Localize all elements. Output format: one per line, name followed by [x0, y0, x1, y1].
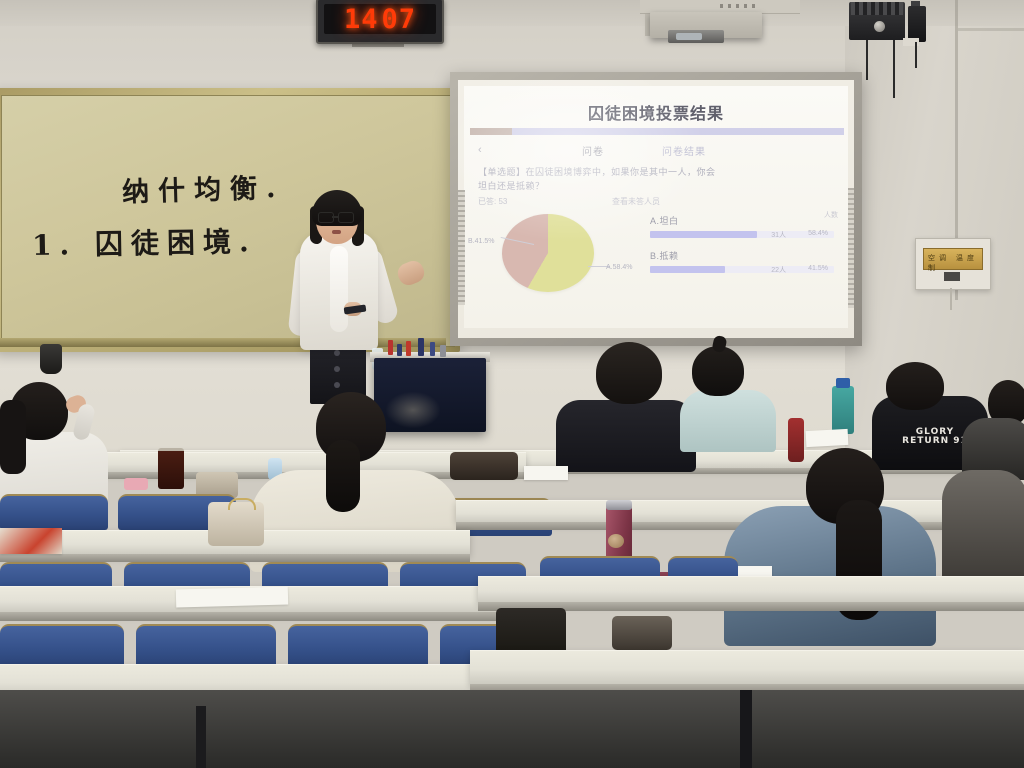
- thermos-collar-icon: [606, 500, 632, 510]
- student-black-jacket: [556, 400, 696, 472]
- whiteboard-line-2: 1. 囚徒困境.: [32, 220, 257, 264]
- desk-row-4-right: [478, 576, 1024, 603]
- marker-blue: [430, 342, 435, 356]
- wall-router: [908, 6, 926, 42]
- seat[interactable]: [288, 624, 428, 668]
- student-blue-hoodie-head: [692, 346, 744, 396]
- paper-sheet: [176, 587, 288, 608]
- panel-wire: [950, 288, 952, 310]
- projector-lens-icon: [676, 33, 702, 40]
- amplifier-heatsink-icon: [851, 2, 903, 15]
- pink-case: [124, 478, 148, 490]
- colored-paper: [0, 528, 62, 554]
- marker-red: [406, 341, 411, 356]
- classroom-floor: [0, 690, 1024, 768]
- podium-reflection: [386, 392, 440, 428]
- desk-row-3-right: [456, 500, 1024, 523]
- marker-blue: [397, 344, 402, 356]
- option-b-bar-track: 22人 41.5%: [650, 266, 834, 273]
- glass-tea-jar: [158, 448, 184, 489]
- seat[interactable]: [136, 624, 276, 668]
- desk-leg: [196, 706, 206, 768]
- backpack: [450, 452, 518, 480]
- equipment-cable: [893, 40, 895, 98]
- marker-red: [388, 340, 393, 355]
- option-b-bar-fill: [650, 266, 725, 273]
- clock-hours: 14: [344, 4, 379, 35]
- seat[interactable]: [0, 624, 124, 668]
- pie-label-a: A.58.4%: [606, 264, 632, 271]
- wall-speaker: [40, 344, 62, 374]
- skirt-button-icon: [334, 350, 340, 356]
- equipment-cable: [915, 42, 917, 68]
- screen-surface: 囚徒困境投票结果 ‹ 问卷 问卷结果 【单选题】在囚徒困境博弈中，如果你是其中一…: [458, 80, 854, 338]
- eyeglasses-bridge-icon: [332, 216, 338, 218]
- paper-sheet: [524, 466, 568, 480]
- red-thermos: [788, 418, 804, 462]
- skirt-button-icon: [334, 382, 340, 388]
- wall-control-panel[interactable]: 空调 温度 制: [915, 238, 991, 290]
- wall-clock: 14 07: [316, 0, 444, 44]
- desk-row-4-left-edge: [0, 612, 536, 621]
- instructor-mouth: [332, 230, 341, 234]
- desk-row-3-left-edge: [0, 554, 470, 562]
- clock-display: 14 07: [324, 4, 436, 34]
- marker-blue: [418, 338, 424, 356]
- student-blue-hoodie: [680, 390, 776, 452]
- wall-seam-horizontal: [958, 28, 1024, 31]
- handbag-strap: [228, 498, 256, 510]
- option-a-percent: 58.4%: [808, 230, 828, 237]
- bottle-cap-icon: [836, 378, 850, 388]
- student-right-grey: [942, 470, 1024, 590]
- classroom-scene: 14 07 纳什均衡. 1. 囚徒困境. 囚徒困境投票结果: [0, 0, 1024, 768]
- desk-row-5-right: [470, 650, 1024, 685]
- panel-display-text: 空调 温度 制: [928, 253, 982, 273]
- teal-water-bottle: [832, 386, 854, 434]
- option-a-count: 31人: [771, 230, 786, 240]
- projector-vents-icon: [720, 4, 760, 8]
- desk-leg: [740, 690, 752, 768]
- clock-minutes: 07: [382, 4, 417, 35]
- whiteboard-line-1: 纳什均衡.: [121, 166, 284, 210]
- amplifier-knob-icon[interactable]: [874, 21, 885, 32]
- student-black-jacket-head: [596, 342, 662, 404]
- projection-screen: 囚徒困境投票结果 ‹ 问卷 问卷结果 【单选题】在囚徒困境博弈中，如果你是其中一…: [450, 72, 862, 346]
- option-b-count: 22人: [771, 265, 786, 275]
- whiteboard-tray: [0, 338, 446, 347]
- poll-option-b: B.抵赖 22人 41.5%: [650, 249, 834, 273]
- option-b-label: B.抵赖: [650, 249, 834, 262]
- skirt-button-icon: [334, 366, 340, 372]
- option-b-percent: 41.5%: [808, 265, 828, 272]
- eyeglasses-icon: [338, 212, 354, 223]
- panel-button[interactable]: [944, 272, 960, 281]
- equipment-cable: [866, 40, 868, 80]
- paper-sheet: [806, 429, 849, 447]
- marker-grey: [440, 345, 446, 357]
- screen-glare: [458, 80, 718, 250]
- screen-side-strip-right: [848, 188, 854, 308]
- thermos-logo-icon: [608, 534, 624, 548]
- seat[interactable]: [0, 494, 108, 530]
- instructor-blouse-ruffle: [330, 246, 348, 332]
- student-glory-return-head: [886, 362, 944, 410]
- panel-display: 空调 温度 制: [923, 248, 983, 270]
- student-center-ponytail: [326, 440, 360, 512]
- student-front-left-hair: [0, 400, 26, 474]
- bag-under-desk: [612, 616, 672, 650]
